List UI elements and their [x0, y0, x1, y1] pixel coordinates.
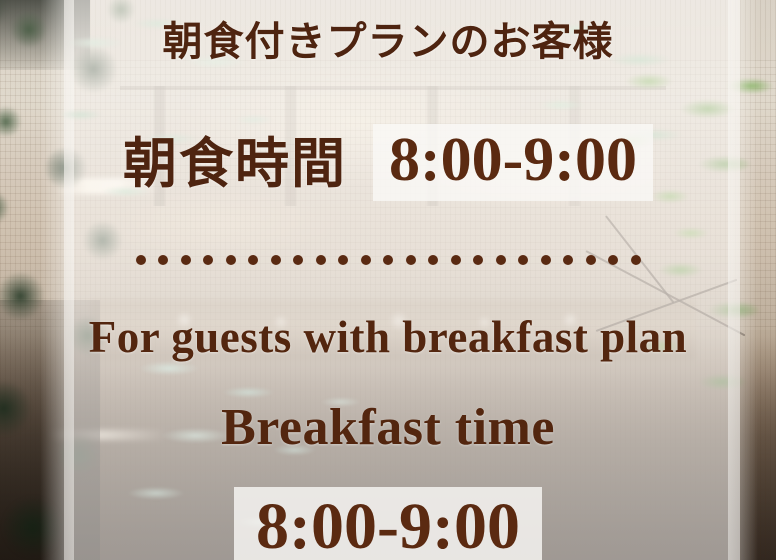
poster-content: 朝食付きプランのお客様 朝食時間 8:00-9:00 For guests wi…: [0, 0, 776, 560]
divider-dot: [496, 255, 506, 265]
breakfast-time-poster: 朝食付きプランのお客様 朝食時間 8:00-9:00 For guests wi…: [0, 0, 776, 560]
divider-dot: [473, 255, 483, 265]
divider-dot: [383, 255, 393, 265]
divider-dot: [181, 255, 191, 265]
english-time-value: 8:00-9:00: [234, 487, 542, 560]
divider-dot: [271, 255, 281, 265]
divider-dot: [158, 255, 168, 265]
divider-dot: [518, 255, 528, 265]
divider-dot: [203, 255, 213, 265]
divider-dot: [586, 255, 596, 265]
japanese-time-label: 朝食時間: [123, 136, 347, 190]
divider-dot: [293, 255, 303, 265]
divider-dot: [136, 255, 146, 265]
divider-dot: [563, 255, 573, 265]
english-heading: Breakfast time: [0, 402, 776, 454]
page-title: 朝食付きプランのお客様: [0, 22, 776, 62]
japanese-time-value: 8:00-9:00: [373, 124, 653, 201]
divider-dot: [338, 255, 348, 265]
dotted-divider: [0, 255, 776, 265]
divider-dot: [608, 255, 618, 265]
divider-dot: [248, 255, 258, 265]
divider-dot: [451, 255, 461, 265]
english-time-row: 8:00-9:00: [0, 487, 776, 560]
english-subtitle: For guests with breakfast plan: [0, 315, 776, 360]
japanese-time-row: 朝食時間 8:00-9:00: [0, 124, 776, 201]
divider-dot: [226, 255, 236, 265]
divider-dot: [316, 255, 326, 265]
divider-dot: [631, 255, 641, 265]
divider-dot: [428, 255, 438, 265]
divider-dot: [406, 255, 416, 265]
divider-dot: [541, 255, 551, 265]
divider-dot: [361, 255, 371, 265]
